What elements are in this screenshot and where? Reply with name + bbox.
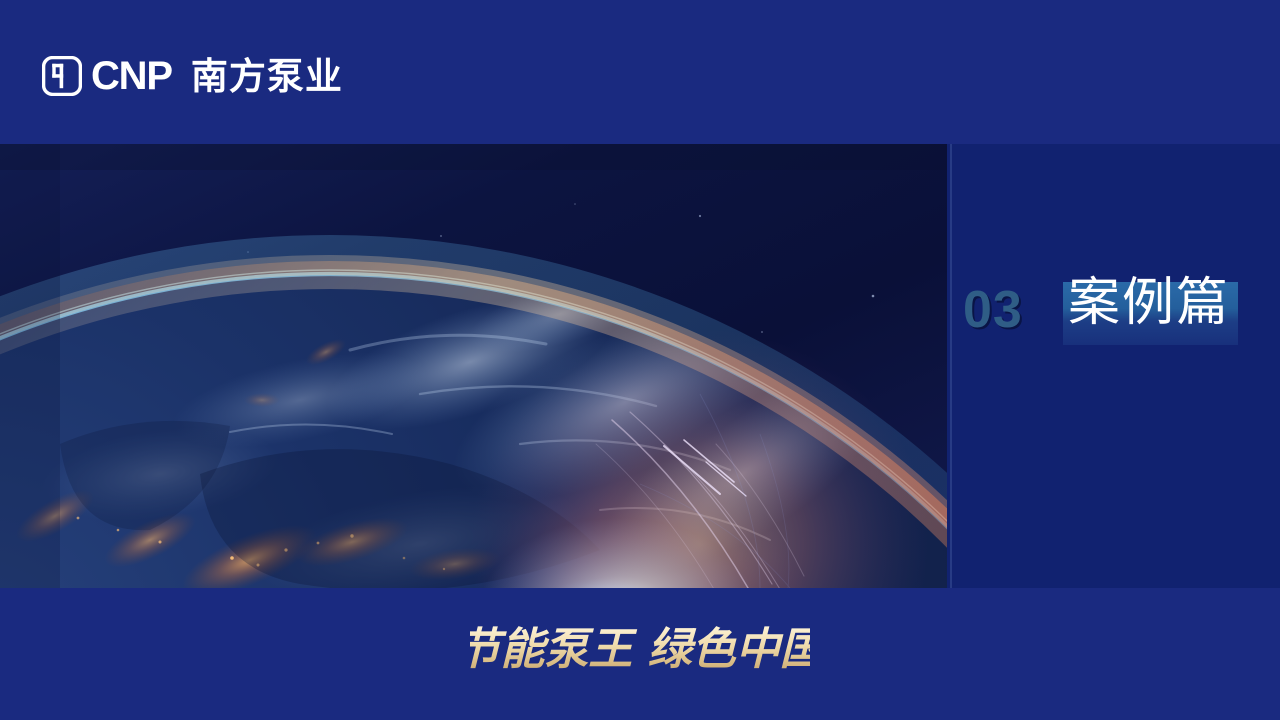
footer-slogan: 节能泵王 绿色中国 — [0, 618, 1280, 680]
footer-slogan-text: 节能泵王 绿色中国 — [470, 624, 810, 675]
earth-from-space-photo — [0, 144, 947, 588]
logo-wordmark-chinese: 南方泵业 — [191, 58, 343, 95]
page-title: 案例篇 — [1068, 277, 1230, 329]
section-title-block: 03 案例篇 — [950, 144, 1280, 588]
brand-logo: CNP 南方泵业 — [42, 52, 343, 100]
slide-header: CNP 南方泵业 — [0, 0, 1280, 144]
presentation-slide: CNP 南方泵业 — [0, 0, 1280, 720]
section-number: 03 — [963, 284, 1023, 336]
footer-slogan-calligraphy: 节能泵王 绿色中国 — [470, 618, 810, 680]
cnp-monogram-icon — [42, 56, 82, 96]
logo-wordmark-latin: CNP — [91, 56, 172, 96]
